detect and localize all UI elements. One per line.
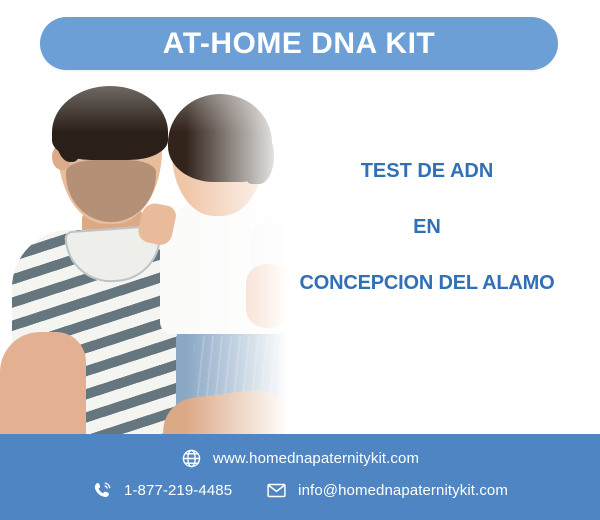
headline-line-3: CONCEPCION DEL ALAMO xyxy=(262,272,592,294)
phone-contact[interactable]: 1-877-219-4485 xyxy=(92,480,232,501)
page-title: AT-HOME DNA KIT xyxy=(163,29,435,59)
website-contact[interactable]: www.homednapaternitykit.com xyxy=(181,448,419,469)
man-hair xyxy=(52,86,168,160)
title-pill: AT-HOME DNA KIT xyxy=(40,17,558,70)
headline-block: TEST DE ADN EN CONCEPCION DEL ALAMO xyxy=(262,160,592,294)
footer-row-website: www.homednapaternitykit.com xyxy=(0,448,600,469)
promo-poster: AT-HOME DNA KIT TEST DE ADN E xyxy=(0,0,600,520)
email-contact[interactable]: info@homednapaternitykit.com xyxy=(266,480,508,501)
email-label: info@homednapaternitykit.com xyxy=(298,482,508,499)
globe-icon xyxy=(181,448,202,469)
headline-line-1: TEST DE ADN xyxy=(262,160,592,182)
phone-label: 1-877-219-4485 xyxy=(124,482,232,499)
phone-icon xyxy=(92,480,113,501)
photo-illustration xyxy=(0,82,300,442)
website-label: www.homednapaternitykit.com xyxy=(213,450,419,467)
contact-footer: www.homednapaternitykit.com 1-877-219-44… xyxy=(0,434,600,520)
header-band: AT-HOME DNA KIT xyxy=(0,0,600,88)
child-hair xyxy=(168,94,272,182)
man-arm xyxy=(0,332,86,442)
footer-row-phone-email: 1-877-219-4485 info@homednapaternitykit.… xyxy=(0,480,600,501)
envelope-icon xyxy=(266,480,287,501)
headline-line-2: EN xyxy=(262,216,592,238)
family-photo xyxy=(0,82,300,442)
